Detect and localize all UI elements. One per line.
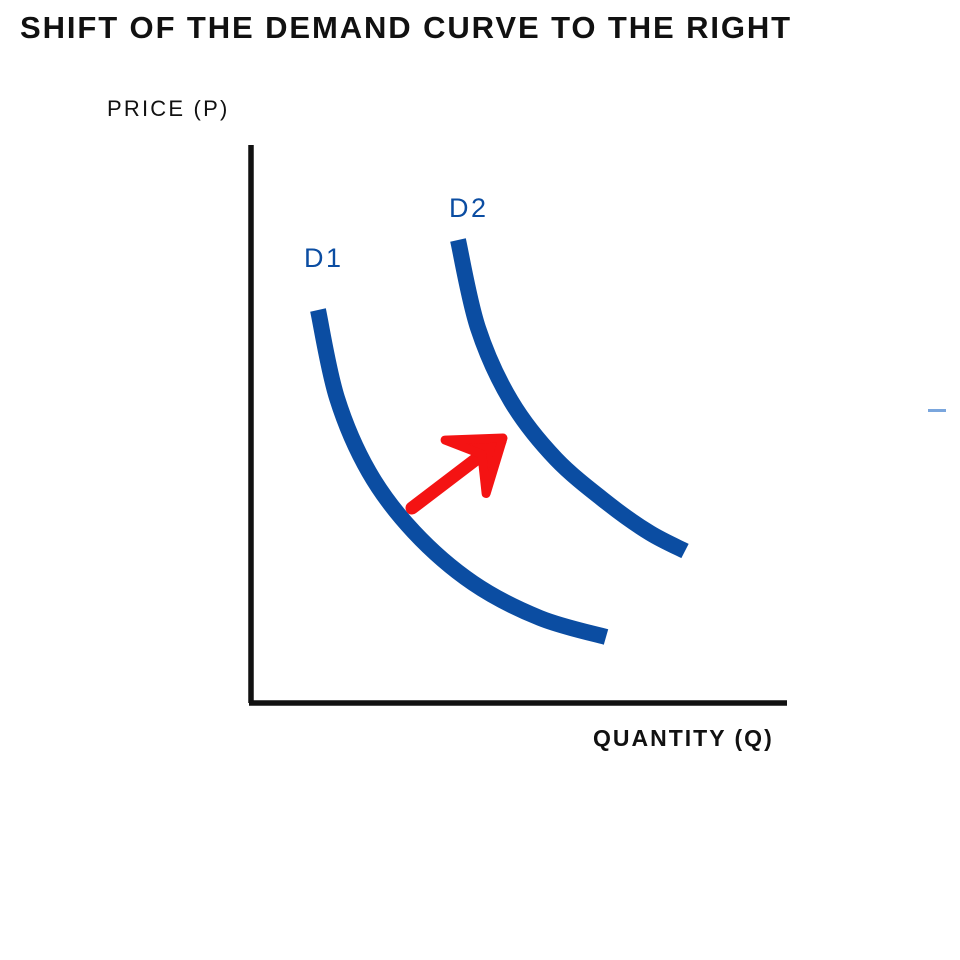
demand-curve-plot (0, 0, 960, 960)
curve-label-d2: D2 (449, 193, 489, 224)
diagram-canvas: SHIFT OF THE DEMAND CURVE TO THE RIGHT P… (0, 0, 960, 960)
shift-arrow-icon (412, 438, 503, 508)
curve-label-d1: D1 (304, 243, 344, 274)
demand-curve-d2 (458, 240, 685, 551)
stray-blue-dash (928, 409, 946, 412)
